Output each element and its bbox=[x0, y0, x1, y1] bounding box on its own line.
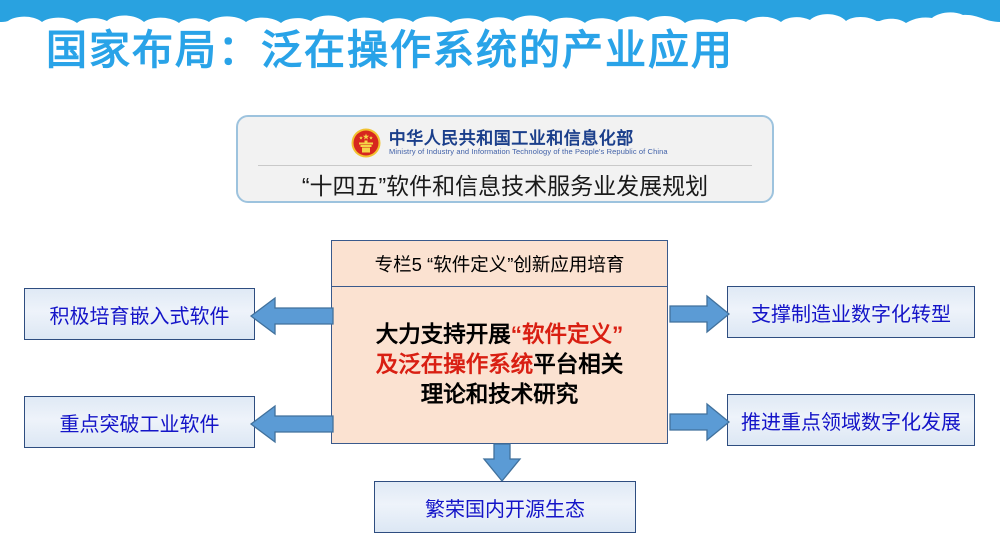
center-text-red-2: 及泛在操作系统 bbox=[376, 352, 534, 377]
center-text-plain-1: 大力支持开展 bbox=[376, 322, 511, 347]
china-national-emblem-icon bbox=[351, 128, 381, 158]
ministry-header: 中华人民共和国工业和信息化部 Ministry of Industry and … bbox=[238, 122, 772, 164]
center-focus-box: 专栏5 “软件定义”创新应用培育 大力支持开展“软件定义” 及泛在操作系统平台相… bbox=[331, 240, 668, 444]
arrow-left-icon-2 bbox=[249, 402, 335, 446]
plan-title: “十四五”软件和信息技术服务业发展规划 bbox=[238, 167, 772, 201]
arrow-right-icon-1 bbox=[669, 292, 731, 336]
ministry-name-en: Ministry of Industry and Information Tec… bbox=[389, 148, 668, 157]
ministry-plan-card: 中华人民共和国工业和信息化部 Ministry of Industry and … bbox=[236, 115, 774, 203]
slide-canvas: 国家布局：泛在操作系统的产业应用 中华人民共和国工业和信息化部 Ministry… bbox=[0, 0, 1000, 552]
center-box-body: 大力支持开展“软件定义” 及泛在操作系统平台相关 理论和技术研究 bbox=[332, 287, 667, 443]
ministry-text-block: 中华人民共和国工业和信息化部 Ministry of Industry and … bbox=[389, 129, 660, 157]
center-box-header: 专栏5 “软件定义”创新应用培育 bbox=[332, 241, 667, 287]
ministry-name-cn: 中华人民共和国工业和信息化部 bbox=[389, 129, 634, 149]
page-title: 国家布局：泛在操作系统的产业应用 bbox=[46, 26, 734, 75]
center-text-plain-2: 平台相关 bbox=[533, 352, 623, 377]
branch-box-bottom[interactable]: 繁荣国内开源生态 bbox=[374, 481, 636, 533]
center-body-text: 大力支持开展“软件定义” 及泛在操作系统平台相关 理论和技术研究 bbox=[376, 320, 624, 409]
center-text-red-1: “软件定义” bbox=[511, 322, 624, 347]
arrow-down-icon bbox=[478, 443, 526, 483]
branch-box-left-2[interactable]: 重点突破工业软件 bbox=[24, 396, 255, 448]
arrow-right-icon-2 bbox=[669, 400, 731, 444]
arrow-left-icon-1 bbox=[249, 294, 335, 338]
center-text-plain-3: 理论和技术研究 bbox=[421, 382, 579, 407]
branch-box-right-1[interactable]: 支撑制造业数字化转型 bbox=[727, 286, 975, 338]
branch-box-right-2[interactable]: 推进重点领域数字化发展 bbox=[727, 394, 975, 446]
ministry-divider bbox=[258, 165, 752, 166]
branch-box-left-1[interactable]: 积极培育嵌入式软件 bbox=[24, 288, 255, 340]
